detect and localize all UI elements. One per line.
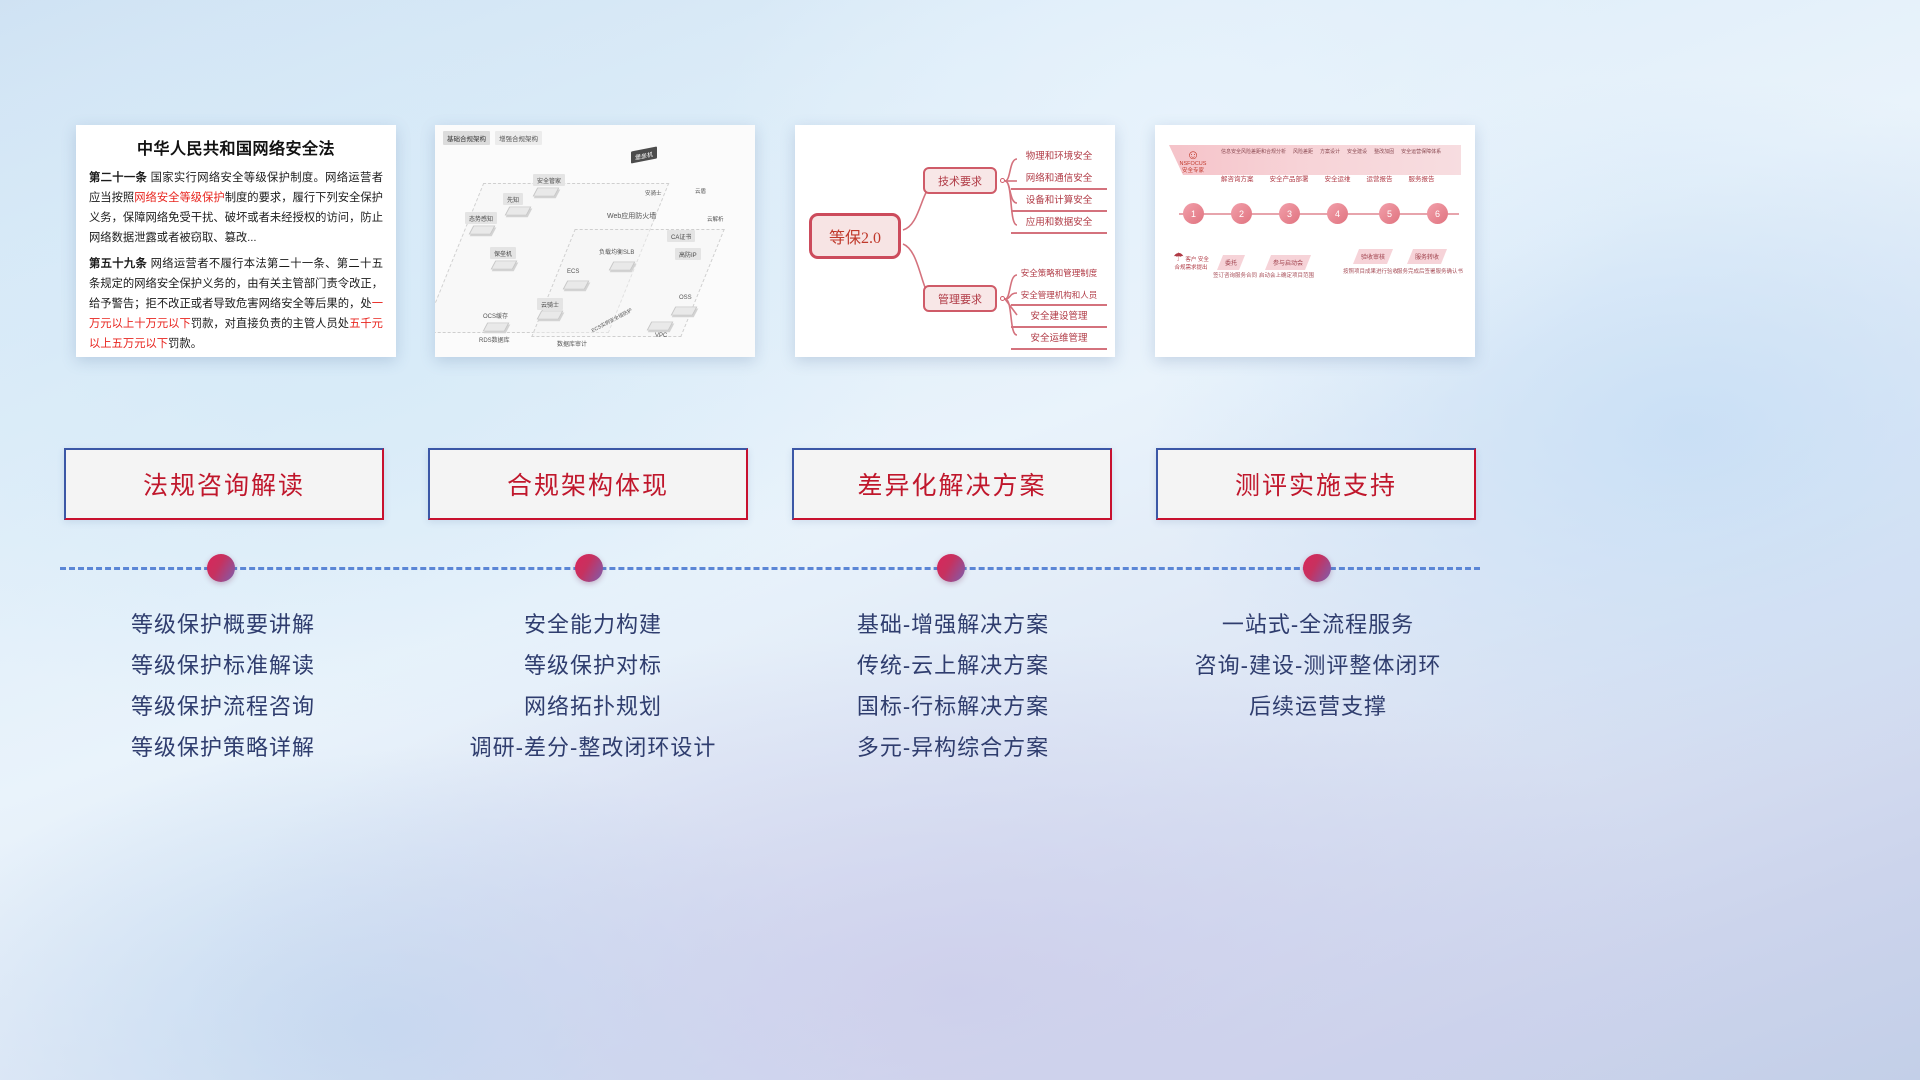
architecture-cube-butler	[533, 188, 560, 197]
architecture-node-dns: 云解析	[703, 213, 728, 224]
mindmap-leaf-app-data: 应用和数据安全	[1011, 215, 1107, 234]
law-document: 中华人民共和国网络安全法 第二十一条 国家实行网络安全等级保护制度。网络运营者应…	[76, 125, 396, 357]
card-mindmap-dengbao[interactable]: 等保2.0 技术要求 物理和环境安全 网络和通信安全 设备和计算安全 应用和数据…	[795, 125, 1115, 357]
list-item: 基础-增强解决方案	[763, 604, 1143, 645]
nsfocus-mid-tags: 解咨询方案 安全产品部署 安全运维 运营报告 服务报告	[1221, 173, 1435, 183]
nsfocus-top-tag-3: 方案设计	[1320, 148, 1340, 155]
architecture-cube-ocs	[483, 323, 510, 332]
architecture-cube-vpc	[647, 322, 674, 331]
step-box-differentiated-solution[interactable]: 差异化解决方案	[792, 448, 1112, 520]
nsfocus-mid-tag-2: 安全产品部署	[1270, 173, 1309, 183]
article-21-label: 第二十一条	[89, 172, 147, 184]
mindmap-leaf-physical-env: 物理和环境安全	[1011, 149, 1107, 168]
mindmap: 等保2.0 技术要求 物理和环境安全 网络和通信安全 设备和计算安全 应用和数据…	[795, 125, 1115, 357]
list-item: 等级保护对标	[403, 645, 783, 686]
nsfocus-chip-kickoff: 参与启动会	[1265, 255, 1311, 270]
mindmap-leaf-ops-mgmt: 安全运维管理	[1011, 331, 1107, 350]
nsfocus-customer: ☂ 客户 安全合规需求提出	[1173, 253, 1209, 272]
list-item: 等级保护标准解读	[33, 645, 413, 686]
nsfocus-top-tag-1: 信息安全风险差距和合规分析	[1221, 148, 1286, 155]
nsfocus-chip-handover: 服务转收	[1407, 249, 1447, 264]
architecture-node-yunqishi: 云骑士	[537, 298, 563, 310]
architecture-cube-situational	[469, 226, 496, 235]
architecture-node-ecs: ECS	[563, 267, 583, 276]
nsfocus-mid-tag-1: 解咨询方案	[1221, 173, 1254, 183]
nsfocus-mid-tag-3: 安全运维	[1325, 173, 1351, 183]
nsfocus-brand-sub: 安全专家	[1182, 168, 1204, 175]
nsfocus-step-5: 5	[1379, 203, 1400, 224]
list-item: 调研-差分-整改闭环设计	[403, 727, 783, 768]
list-item: 安全能力构建	[403, 604, 783, 645]
nsfocus-flow: ☺ NSFOCUS 安全专家 信息安全风险差距和合规分析 风险差距 方案设计 安…	[1155, 125, 1475, 357]
detail-list-compliance-architecture: 安全能力构建 等级保护对标 网络拓扑规划 调研-差分-整改闭环设计	[403, 604, 783, 768]
list-item: 国标-行标解决方案	[763, 686, 1143, 727]
mindmap-root: 等保2.0	[809, 213, 901, 259]
media-cards-row: 中华人民共和国网络安全法 第二十一条 国家实行网络安全等级保护制度。网络运营者应…	[0, 125, 1920, 365]
architecture-cube-bastion	[491, 261, 518, 270]
architecture-node-slb: 负载均衡SLB	[595, 245, 638, 257]
card-cybersecurity-law[interactable]: 中华人民共和国网络安全法 第二十一条 国家实行网络安全等级保护制度。网络运营者应…	[76, 125, 396, 357]
mindmap-leaf-device-compute: 设备和计算安全	[1011, 193, 1107, 212]
nsfocus-step-2: 2	[1231, 203, 1252, 224]
detail-list-regulation-consulting: 等级保护概要讲解 等级保护标准解读 等级保护流程咨询 等级保护策略详解	[33, 604, 413, 768]
mindmap-connector-management	[1000, 296, 1005, 301]
step-label-row: 法规咨询解读 合规架构体现 差异化解决方案 测评实施支持	[0, 448, 1920, 526]
nsfocus-chip-acceptance: 验收审核	[1353, 249, 1393, 264]
timeline-dot-2	[575, 554, 603, 582]
article-59-text-3: 罚款。	[168, 338, 202, 350]
timeline-dot-1	[207, 554, 235, 582]
architecture-node-security-butler: 安全管家	[533, 174, 565, 186]
timeline	[0, 566, 1920, 570]
step-box-assessment-support[interactable]: 测评实施支持	[1156, 448, 1476, 520]
list-item: 一站式-全流程服务	[1128, 604, 1508, 645]
architecture-node-anqishi: 安骑士	[641, 187, 666, 198]
article-59-label: 第五十九条	[89, 258, 147, 270]
architecture-node-waf: Web应用防火墙	[603, 209, 660, 222]
mindmap-leaf-org-personnel: 安全管理机构和人员	[1011, 287, 1107, 306]
mindmap-connector-technical	[1000, 178, 1005, 183]
architecture-cube-xianzhi	[505, 207, 532, 216]
architecture-diagram: 基础合规架构 增强合规架构 堡垒机 安全管家 先知 态势感知 保垒机 ECS 云…	[435, 125, 755, 357]
architecture-node-db-audit: 数据库审计	[553, 337, 591, 349]
expert-icon: ☺	[1186, 148, 1199, 161]
nsfocus-timeline-line	[1179, 213, 1459, 215]
nsfocus-customer-label: 客户	[1185, 257, 1196, 263]
detail-list-assessment-support: 一站式-全流程服务 咨询-建设-测评整体闭环 后续运营支撑	[1128, 604, 1508, 727]
architecture-cube-slb	[609, 262, 636, 271]
nsfocus-top-tag-5: 整改加固	[1374, 148, 1394, 155]
card-nsfocus-service-flow[interactable]: ☺ NSFOCUS 安全专家 信息安全风险差距和合规分析 风险差距 方案设计 安…	[1155, 125, 1475, 357]
nsfocus-chip-sub-3: 按照项目成果进行验收	[1343, 267, 1398, 275]
list-item: 等级保护流程咨询	[33, 686, 413, 727]
architecture-cube-ecs	[563, 281, 590, 290]
nsfocus-top-tag-2: 风险差距	[1293, 148, 1313, 155]
mindmap-leaf-policy-system: 安全策略和管理制度	[1011, 265, 1107, 284]
list-item: 等级保护策略详解	[33, 727, 413, 768]
step-box-regulation-consulting[interactable]: 法规咨询解读	[64, 448, 384, 520]
architecture-node-vpc: VPC	[651, 331, 671, 340]
architecture-node-gaofangip: 高防IP	[675, 248, 701, 260]
architecture-tab-basic[interactable]: 基础合规架构	[443, 131, 490, 145]
law-article-59: 第五十九条 网络运营者不履行本法第二十一条、第二十五条规定的网络安全保护义务的，…	[89, 254, 383, 354]
law-article-21: 第二十一条 国家实行网络安全等级保护制度。网络运营者应当按照网络安全等级保护制度…	[89, 168, 383, 248]
user-icon: ☂	[1173, 250, 1184, 264]
article-21-highlight: 网络安全等级保护	[134, 192, 224, 204]
nsfocus-brand: ☺ NSFOCUS 安全专家	[1171, 139, 1215, 183]
article-59-text-2: 罚款，对直接负责的主管人员处	[191, 318, 349, 330]
architecture-node-oss: OSS	[675, 293, 696, 302]
nsfocus-brand-mark: NSFOCUS	[1180, 161, 1207, 168]
card-compliance-architecture[interactable]: 基础合规架构 增强合规架构 堡垒机 安全管家 先知 态势感知 保垒机 ECS 云…	[435, 125, 755, 357]
step-box-compliance-architecture[interactable]: 合规架构体现	[428, 448, 748, 520]
nsfocus-step-6: 6	[1427, 203, 1448, 224]
architecture-node-situational-awareness: 态势感知	[465, 212, 497, 224]
nsfocus-step-3: 3	[1279, 203, 1300, 224]
nsfocus-step-4: 4	[1327, 203, 1348, 224]
mindmap-leaf-construction-mgmt: 安全建设管理	[1011, 309, 1107, 328]
nsfocus-mid-tag-5: 服务报告	[1409, 173, 1435, 183]
architecture-tab-enhanced[interactable]: 增强合规架构	[495, 131, 542, 145]
nsfocus-top-tags: 信息安全风险差距和合规分析 风险差距 方案设计 安全建设 整改加固 安全运营保障…	[1221, 148, 1441, 155]
list-item: 传统-云上解决方案	[763, 645, 1143, 686]
law-title: 中华人民共和国网络安全法	[89, 135, 383, 159]
nsfocus-mid-tag-4: 运营报告	[1367, 173, 1393, 183]
nsfocus-chip-sub-4: 服务完成后签署服务确认书	[1397, 267, 1463, 275]
list-item: 后续运营支撑	[1128, 686, 1508, 727]
architecture-node-yundun: 云盾	[691, 185, 710, 196]
architecture-node-bastion-host: 保垒机	[490, 247, 516, 259]
nsfocus-chip-sub-2: 启动会上确定项目范围	[1259, 271, 1314, 279]
mindmap-branch-management: 管理要求	[923, 285, 997, 312]
architecture-node-ocs: OCS缓存	[479, 309, 512, 321]
architecture-tabs: 基础合规架构 增强合规架构	[443, 131, 542, 145]
list-item: 咨询-建设-测评整体闭环	[1128, 645, 1508, 686]
nsfocus-top-tag-4: 安全建设	[1347, 148, 1367, 155]
architecture-node-ca: CA证书	[667, 230, 695, 242]
timeline-dot-3	[937, 554, 965, 582]
nsfocus-step-1: 1	[1183, 203, 1204, 224]
architecture-cube-yunqishi	[537, 311, 564, 320]
detail-list-differentiated-solution: 基础-增强解决方案 传统-云上解决方案 国标-行标解决方案 多元-异构综合方案	[763, 604, 1143, 768]
timeline-dot-4	[1303, 554, 1331, 582]
list-item: 等级保护概要讲解	[33, 604, 413, 645]
nsfocus-top-tag-6: 安全运营保障体系	[1401, 148, 1441, 155]
mindmap-branch-technical: 技术要求	[923, 167, 997, 194]
mindmap-leaf-network-comm: 网络和通信安全	[1011, 171, 1107, 190]
list-item: 多元-异构综合方案	[763, 727, 1143, 768]
timeline-dashed-line	[60, 567, 1480, 570]
list-item: 网络拓扑规划	[403, 686, 783, 727]
architecture-cube-oss	[671, 307, 698, 316]
nsfocus-chip-commission: 委托	[1217, 255, 1245, 270]
architecture-node-rds: RDS数据库	[475, 333, 514, 345]
architecture-node-xianzhi: 先知	[503, 193, 523, 205]
architecture-node-bastion-top: 堡垒机	[631, 146, 657, 163]
nsfocus-chip-sub-1: 签订咨询服务合同	[1213, 271, 1257, 279]
